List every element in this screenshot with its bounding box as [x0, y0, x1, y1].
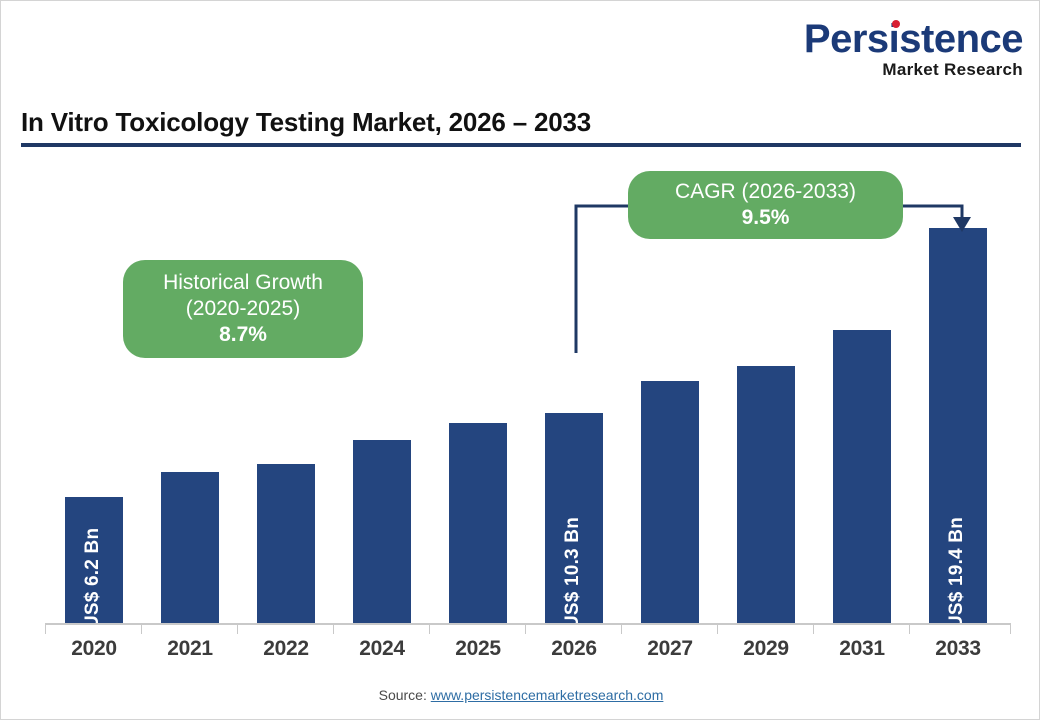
- x-axis-line: [45, 623, 1011, 625]
- source-link[interactable]: www.persistencemarketresearch.com: [431, 687, 664, 703]
- historical-growth-callout: Historical Growth (2020-2025) 8.7%: [123, 260, 363, 358]
- x-axis-label-2031: 2031: [817, 637, 907, 661]
- historical-growth-line2: (2020-2025): [186, 296, 300, 322]
- bar-2029: [737, 366, 795, 623]
- bar-value-label-2026: US$ 10.3 Bn: [562, 517, 584, 629]
- chart-page: Persistence Market Research In Vitro Tox…: [0, 0, 1040, 720]
- bar-2024: [353, 440, 411, 623]
- bar-value-label-2020: US$ 6.2 Bn: [82, 528, 104, 629]
- cagr-callout: CAGR (2026-2033) 9.5%: [628, 171, 903, 239]
- x-axis-label-2033: 2033: [913, 637, 1003, 661]
- bar-2025: [449, 423, 507, 623]
- x-axis-label-2021: 2021: [145, 637, 235, 661]
- chart-plot-area: US$ 6.2 Bn20202021202220242025US$ 10.3 B…: [1, 1, 1040, 720]
- x-axis-label-2024: 2024: [337, 637, 427, 661]
- cagr-value: 9.5%: [742, 205, 790, 231]
- bar-2027: [641, 381, 699, 623]
- x-axis-label-2026: 2026: [529, 637, 619, 661]
- x-axis-label-2027: 2027: [625, 637, 715, 661]
- bar-2021: [161, 472, 219, 623]
- x-axis-label-2022: 2022: [241, 637, 331, 661]
- x-axis-label-2020: 2020: [49, 637, 139, 661]
- source-note: Source: www.persistencemarketresearch.co…: [1, 687, 1040, 703]
- x-axis-label-2025: 2025: [433, 637, 523, 661]
- historical-growth-line1: Historical Growth: [163, 270, 323, 296]
- bar-value-label-2033: US$ 19.4 Bn: [946, 517, 968, 629]
- source-prefix: Source:: [379, 687, 431, 703]
- historical-growth-value: 8.7%: [219, 322, 267, 348]
- x-axis-label-2029: 2029: [721, 637, 811, 661]
- bar-2031: [833, 330, 891, 623]
- bar-2022: [257, 464, 315, 623]
- cagr-line1: CAGR (2026-2033): [675, 179, 856, 205]
